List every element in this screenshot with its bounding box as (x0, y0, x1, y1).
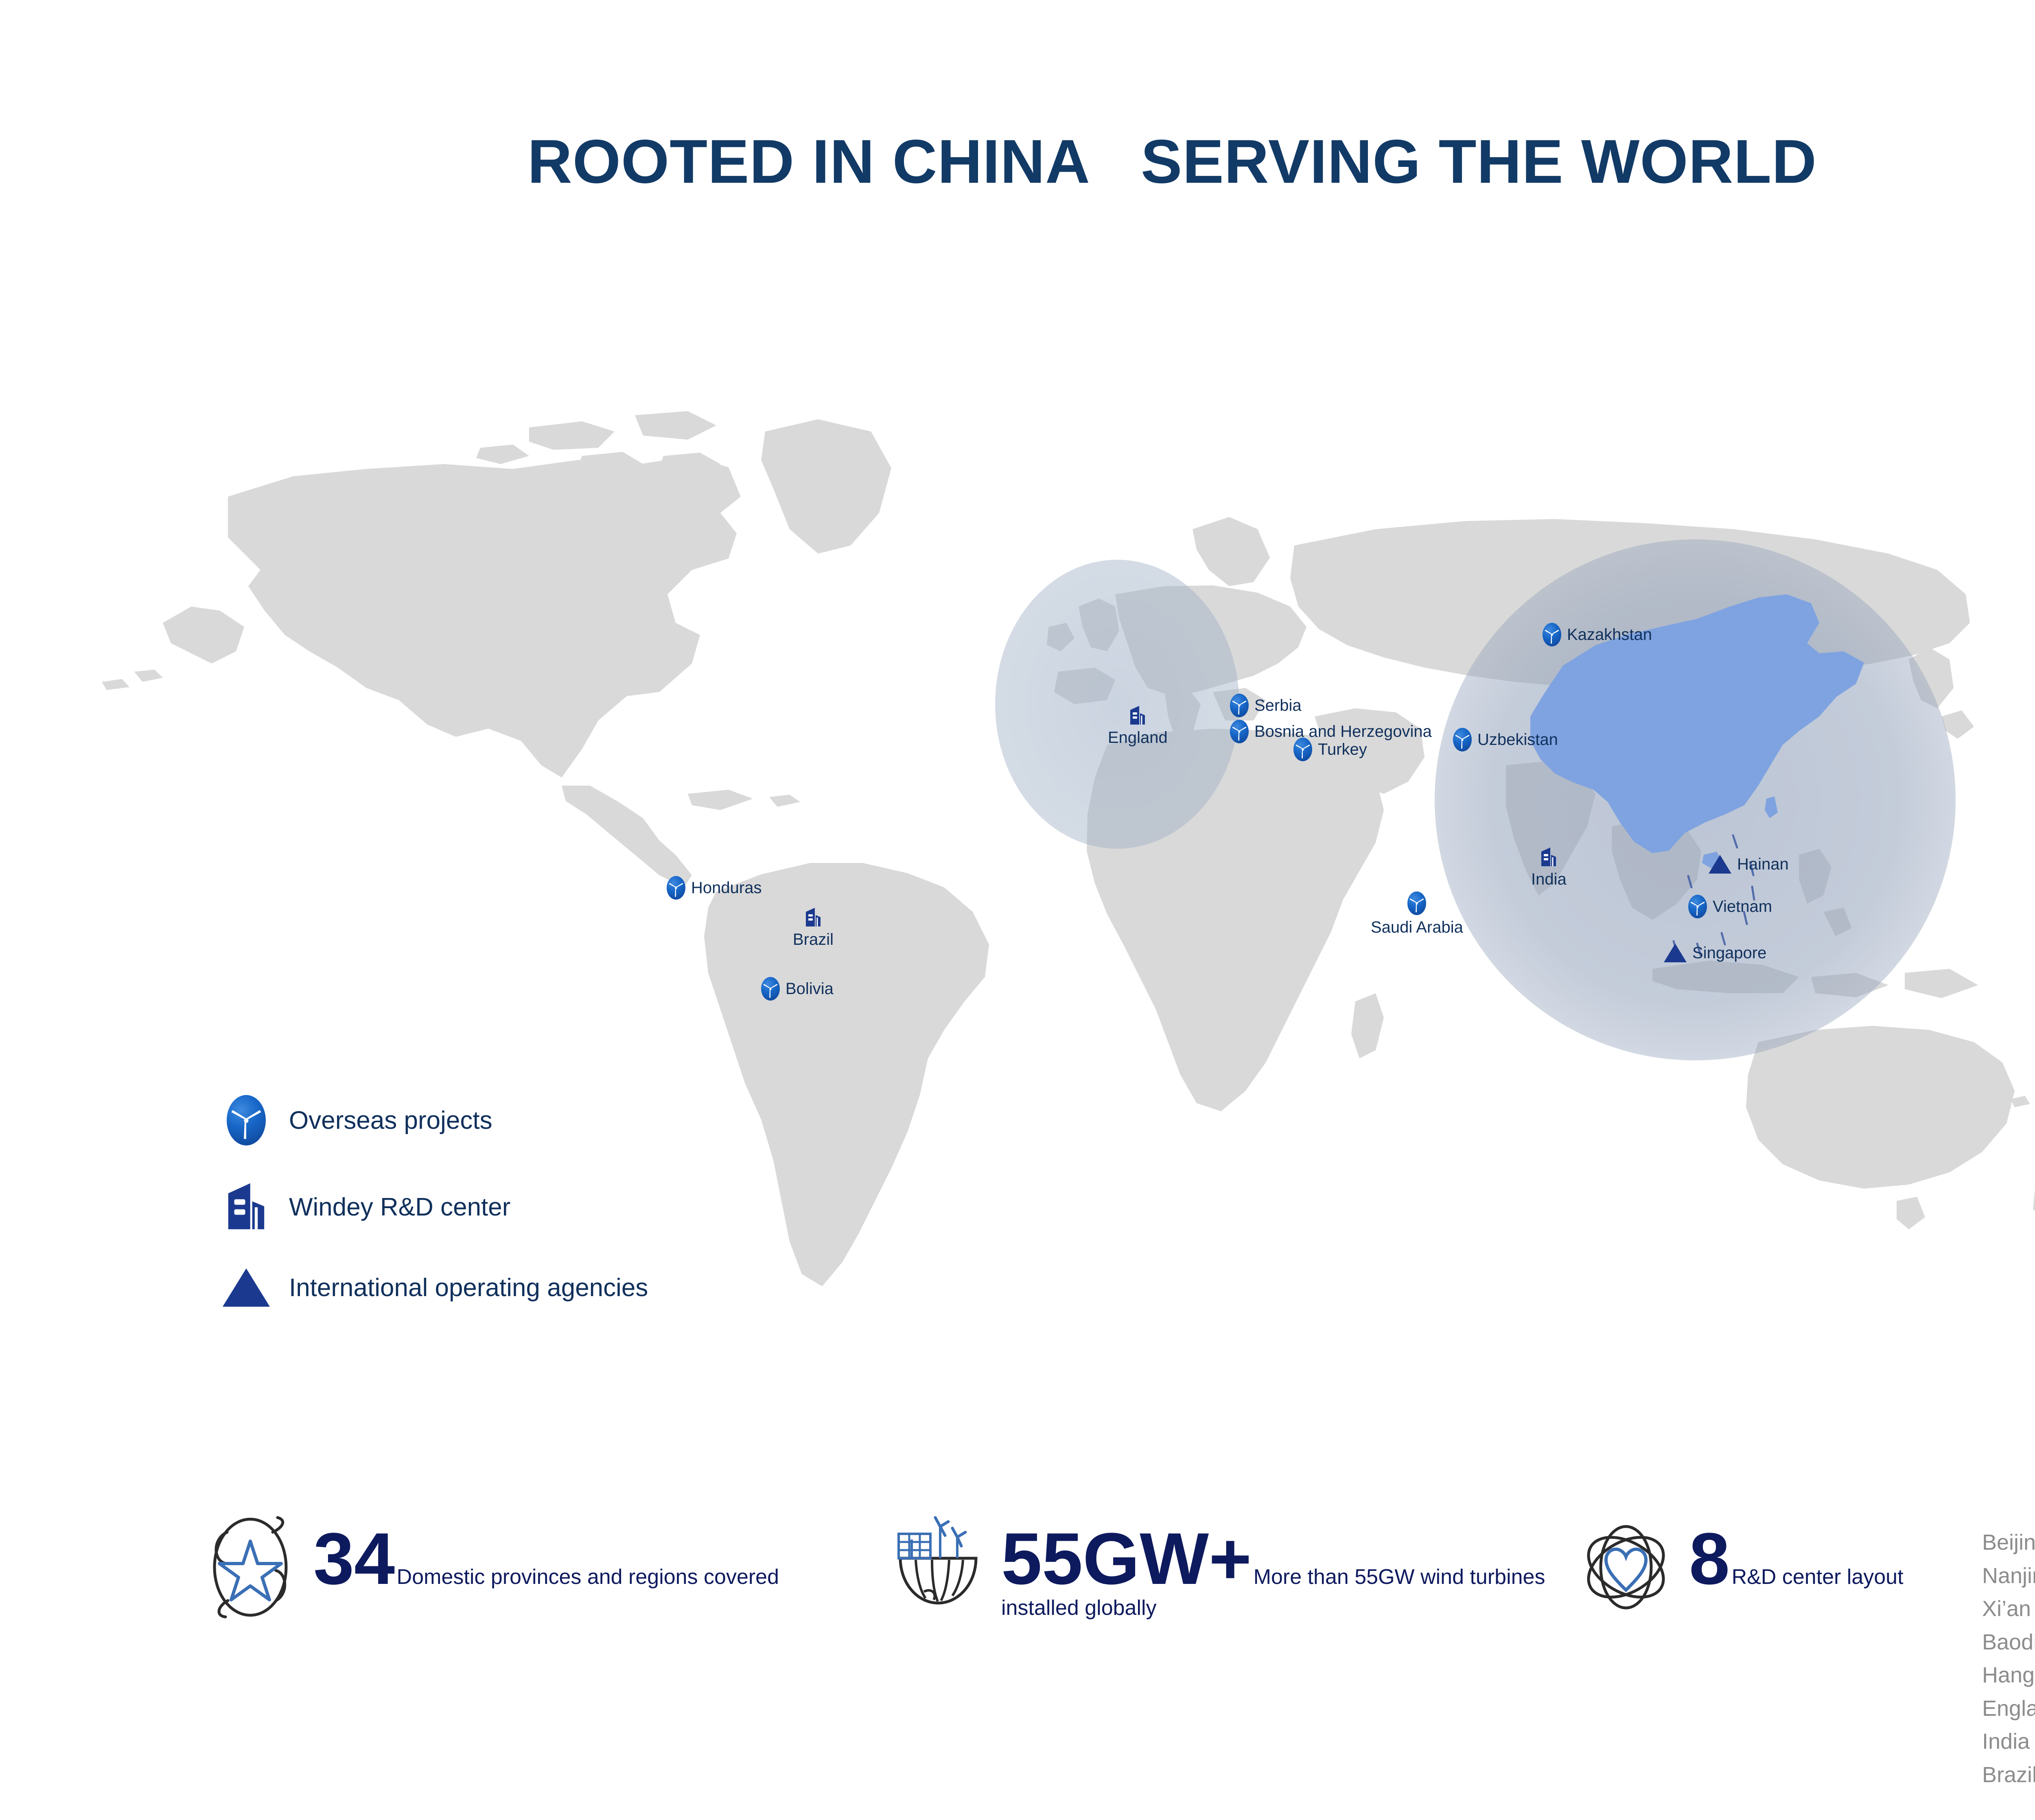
legend-label: Windey R&D center (289, 1193, 510, 1222)
header: ROOTED IN CHINA SERVING THE WORLD (0, 126, 2035, 197)
map-marker-label: Uzbekistan (1477, 732, 1558, 748)
stat-value: 55GW+ (1001, 1518, 1252, 1600)
map-marker-label: Turkey (1318, 741, 1367, 758)
rd-center-city: Nanjinig (1982, 1564, 2035, 1588)
map-marker[interactable]: Hainan (1709, 855, 1789, 874)
renewable-globe-icon (891, 1514, 985, 1620)
map-marker[interactable]: England (1108, 705, 1168, 746)
map-marker-label: England (1108, 729, 1168, 746)
map-marker-label: Brazil (793, 931, 834, 948)
triangle-icon (220, 1268, 273, 1307)
rd-center-row: IndiaTechnical Cooperation (1982, 1730, 2035, 1754)
wind-turbine-icon (761, 977, 780, 1001)
rd-center-city: Baoding (1982, 1630, 2035, 1654)
stat-rd-centers: 8 R&D center layout (1579, 1514, 1904, 1620)
triangle-icon (1709, 855, 1731, 874)
rd-center-city: England (1982, 1697, 2035, 1721)
map-marker[interactable]: Uzbekistan (1453, 728, 1558, 751)
rd-center-list: BeijingOffshore wind powerNanjinigEngine… (1982, 1531, 2035, 1816)
wind-turbine-icon (220, 1095, 273, 1145)
rd-center-city: Xi’an (1982, 1597, 2035, 1621)
rd-center-row: NanjinigEngineering technology (1982, 1564, 2035, 1588)
rd-center-row: HangzhouR&D headquarters (1982, 1663, 2035, 1688)
rd-center-row: BrazilRenewable energy technologies（prep… (1982, 1763, 2035, 1807)
page-title: ROOTED IN CHINA SERVING THE WORLD (527, 127, 1817, 196)
wind-turbine-icon (667, 876, 685, 900)
building-icon (804, 907, 822, 927)
wind-turbine-icon (1453, 728, 1472, 751)
wind-turbine-icon (1230, 720, 1249, 743)
wind-turbine-icon (1543, 623, 1561, 646)
map-marker[interactable]: Honduras (667, 876, 761, 900)
map-marker-label: Bosnia and Herzegovina (1254, 723, 1432, 740)
stat-provinces: 34 Domestic provinces and regions covere… (203, 1514, 779, 1620)
legend-label: International operating agencies (289, 1273, 648, 1302)
legend-item-overseas-projects: Overseas projects (220, 1095, 648, 1145)
triangle-icon (1664, 944, 1687, 962)
rd-center-city: India (1982, 1730, 2035, 1754)
stat-value: 34 (313, 1518, 395, 1600)
europe-halo (995, 560, 1239, 849)
map-marker[interactable]: India (1531, 847, 1567, 887)
wind-turbine-icon (1293, 738, 1312, 761)
stat-description: R&D center layout (1732, 1565, 1904, 1589)
building-icon (1540, 847, 1558, 867)
map-marker-label: Kazakhstan (1567, 626, 1652, 643)
map-marker[interactable]: Saudi Arabia (1371, 891, 1463, 935)
map-marker-label: Saudi Arabia (1371, 919, 1463, 935)
rd-center-city: Hangzhou (1982, 1663, 2035, 1687)
map-marker-label: Honduras (691, 880, 761, 896)
building-icon (220, 1181, 273, 1233)
wind-turbine-icon (1688, 895, 1707, 918)
star-globe-icon (203, 1514, 297, 1620)
map-marker[interactable]: Turkey (1293, 738, 1367, 761)
rd-center-row: BeijingOffshore wind power (1982, 1531, 2035, 1555)
rd-center-city: Brazil (1982, 1763, 2035, 1787)
map-marker[interactable]: Singapore (1664, 944, 1766, 962)
atom-heart-icon (1579, 1514, 1673, 1620)
map-marker-label: Vietnam (1713, 898, 1772, 915)
stat-description: Domestic provinces and regions covered (397, 1565, 779, 1589)
map-marker[interactable]: Brazil (793, 907, 834, 948)
map-marker-label: India (1531, 871, 1567, 887)
map-marker[interactable]: Kazakhstan (1543, 623, 1652, 646)
map-marker-label: Singapore (1692, 945, 1766, 961)
legend-label: Overseas projects (289, 1106, 492, 1135)
wind-turbine-icon (1230, 694, 1249, 717)
map-marker[interactable]: Serbia (1230, 694, 1302, 717)
building-icon (1129, 705, 1147, 725)
stat-value: 8 (1689, 1518, 1730, 1600)
stat-installed-capacity: 55GW+ More than 55GW wind turbines insta… (891, 1514, 1545, 1622)
map-marker-label: Serbia (1254, 697, 1302, 714)
map-legend: Overseas projects Windey R&D center Inte… (220, 1095, 648, 1343)
wind-turbine-icon (1407, 891, 1426, 915)
map-marker-label: Hainan (1737, 856, 1789, 872)
legend-item-operating-agencies: International operating agencies (220, 1268, 648, 1307)
rd-center-row: EnglandAdvanced control (1982, 1697, 2035, 1721)
rd-center-city: Beijing (1982, 1531, 2035, 1555)
map-marker[interactable]: Vietnam (1688, 895, 1772, 918)
legend-item-rd-center: Windey R&D center (220, 1181, 648, 1233)
stats-row: 34 Domestic provinces and regions covere… (0, 1506, 2035, 1820)
rd-center-row: BaodingAerodynamics (1982, 1630, 2035, 1655)
rd-center-row: Xi’anPower electronics (1982, 1597, 2035, 1621)
map-marker-label: Bolivia (786, 981, 834, 997)
map-marker[interactable]: Bolivia (761, 977, 834, 1001)
